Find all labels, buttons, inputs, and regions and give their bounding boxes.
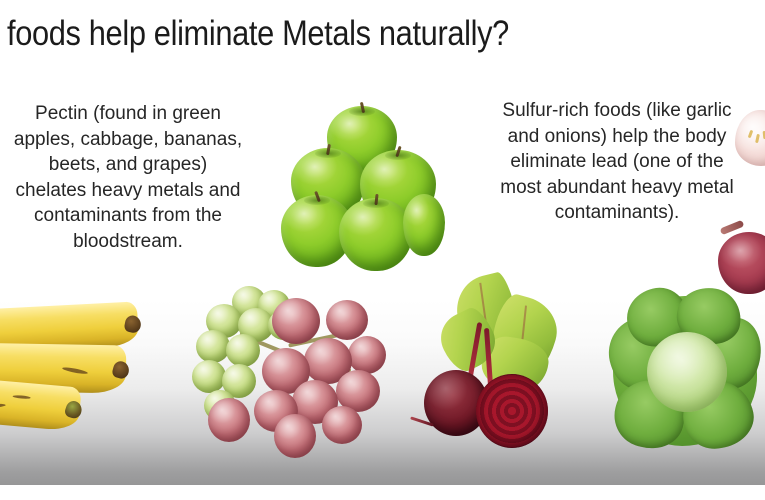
beet-cut-half bbox=[476, 374, 548, 448]
grape-red bbox=[274, 414, 316, 458]
grape-green bbox=[192, 360, 226, 393]
banana-tip bbox=[63, 399, 84, 420]
banana-spot bbox=[0, 403, 6, 409]
grape-red bbox=[326, 300, 368, 340]
cabbage-image bbox=[609, 288, 761, 453]
grape-green bbox=[196, 330, 230, 363]
apple-right-edge bbox=[403, 194, 445, 256]
grape-red bbox=[322, 406, 362, 444]
garlic-streak bbox=[755, 134, 760, 143]
bananas-image bbox=[0, 300, 175, 450]
grape-red bbox=[272, 298, 320, 344]
banana-tip bbox=[111, 360, 131, 381]
cabbage-inner-head bbox=[647, 332, 727, 412]
garlic-streak bbox=[748, 130, 754, 139]
slide-canvas: n foods help eliminate Metals naturally?… bbox=[0, 0, 765, 500]
grape-green bbox=[226, 334, 260, 367]
pectin-paragraph: Pectin (found in green apples, cabbage, … bbox=[12, 101, 244, 255]
red-onion-image bbox=[718, 222, 765, 294]
green-apples-image bbox=[281, 106, 441, 271]
garlic-image bbox=[735, 110, 765, 168]
grape-red bbox=[208, 398, 250, 442]
onion-bulb bbox=[718, 232, 765, 294]
grape-red bbox=[348, 336, 386, 374]
banana-tip bbox=[123, 314, 142, 334]
apple-bottom-center bbox=[339, 198, 413, 271]
slide-bottom-margin bbox=[0, 485, 765, 500]
banana-spot bbox=[13, 395, 31, 400]
grapes-image bbox=[196, 286, 386, 461]
garlic-bulb bbox=[735, 110, 765, 166]
beets-image bbox=[410, 276, 575, 461]
banana-spot bbox=[62, 366, 88, 375]
apple-stem bbox=[374, 194, 378, 205]
sulfur-paragraph: Sulfur-rich foods (like garlic and onion… bbox=[492, 98, 742, 226]
slide-title: n foods help eliminate Metals naturally? bbox=[0, 12, 598, 56]
